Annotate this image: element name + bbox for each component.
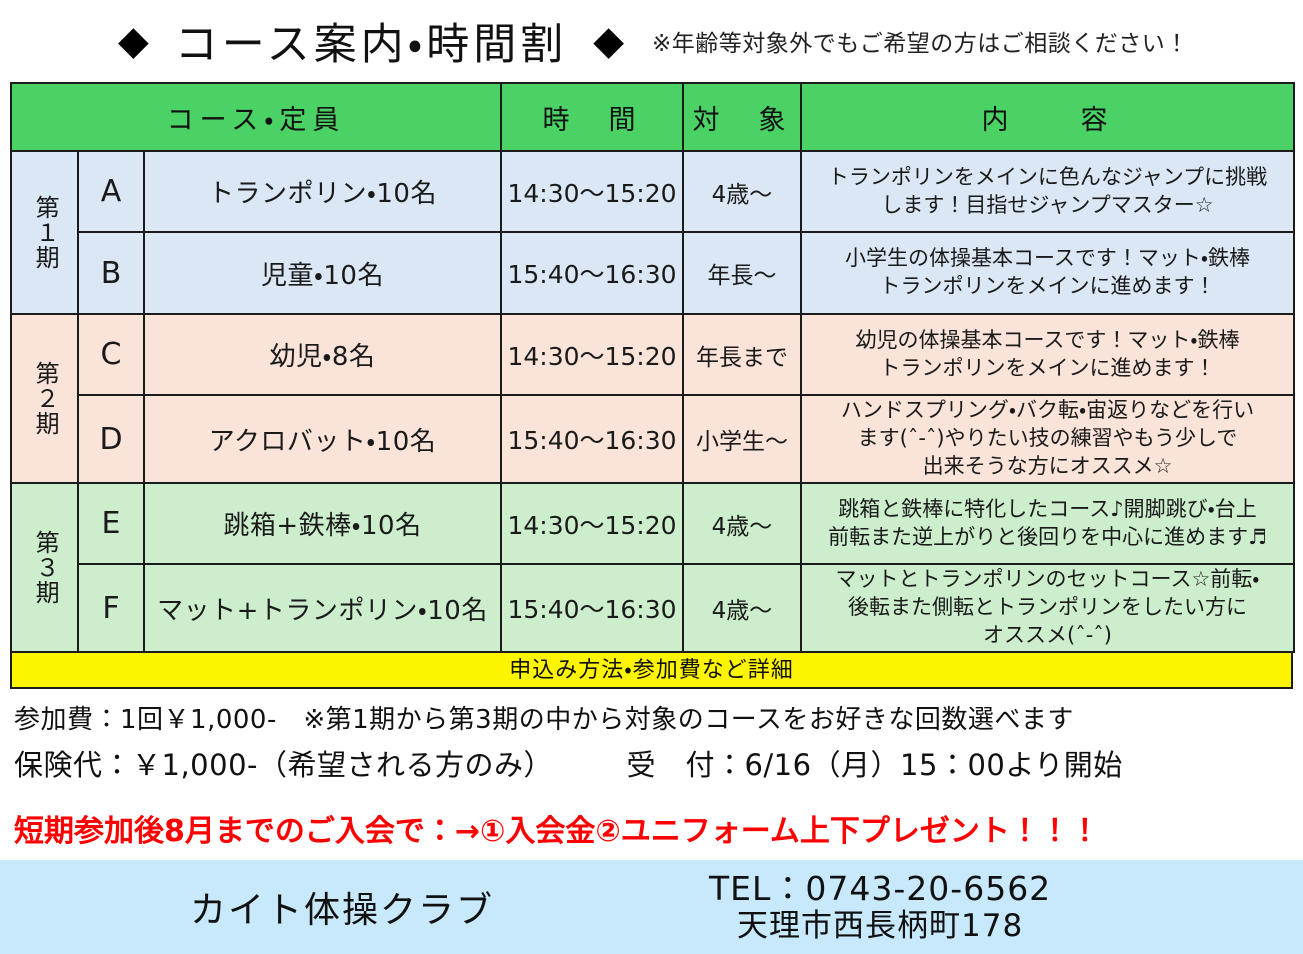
header-course: コース・定員	[11, 83, 501, 151]
period-cell-1: 第１期	[11, 151, 78, 314]
course-content: ハンドスプリング・バク転・宙返りなどを行い ます(ˆ-ˆ)やりたい技の練習やもう…	[801, 395, 1294, 483]
course-letter: D	[78, 395, 144, 483]
diamond-right-icon: ◆	[593, 21, 624, 61]
course-name: マット+トランポリン・10名	[144, 564, 501, 652]
course-name: アクロバット・10名	[144, 395, 501, 483]
course-target: 4歳～	[683, 483, 801, 564]
course-content: マットとトランポリンのセットコース☆前転・ 後転また側転とトランポリンをしたい方…	[801, 564, 1294, 652]
course-time: 14:30～15:20	[501, 314, 683, 395]
period-label: 第２期	[32, 361, 57, 436]
course-target: 4歳～	[683, 564, 801, 652]
course-content: 跳箱と鉄棒に特化したコース♪開脚跳び・台上 前転また逆上がりと後回りを中心に進め…	[801, 483, 1294, 564]
diamond-left-icon: ◆	[118, 21, 149, 61]
course-content: 幼児の体操基本コースです！マット・鉄棒 トランポリンをメインに進めます！	[801, 314, 1294, 395]
footer-bar: カイト体操クラブ TEL：0743-20-6562 天理市西長柄町178	[0, 860, 1303, 954]
title-note: ※年齢等対象外でもご希望の方はご相談ください！	[652, 24, 1189, 58]
course-name: 跳箱+鉄棒・10名	[144, 483, 501, 564]
course-time: 15:40～16:30	[501, 564, 683, 652]
period-cell-2: 第２期	[11, 314, 78, 483]
course-content: 小学生の体操基本コースです！マット・鉄棒 トランポリンをメインに進めます！	[801, 232, 1294, 314]
promo-text: 短期参加後8月までのご入会で：→①入会金②ユニフォーム上下プレゼント！！！	[0, 790, 1303, 860]
course-time: 15:40～16:30	[501, 232, 683, 314]
course-schedule-table: コース・定員 時 間 対 象 内 容 第１期 A トランポリン・10名 14:3…	[10, 82, 1295, 653]
details-band: 申込み方法・参加費など詳細	[10, 653, 1293, 689]
contact-address: 天理市西長柄町178	[709, 908, 1051, 945]
course-target: 小学生～	[683, 395, 801, 483]
course-time: 15:40～16:30	[501, 395, 683, 483]
table-row: B 児童・10名 15:40～16:30 年長～ 小学生の体操基本コースです！マ…	[11, 232, 1294, 314]
header-content: 内 容	[801, 83, 1294, 151]
club-name: カイト体操クラブ	[190, 881, 494, 933]
course-target: 年長～	[683, 232, 801, 314]
fee-line-insurance: 保険代：￥1,000-（希望される方のみ） 受 付：6/16（月）15：00より…	[14, 742, 1289, 784]
table-row: 第２期 C 幼児・8名 14:30～15:20 年長まで 幼児の体操基本コースで…	[11, 314, 1294, 395]
table-row: 第３期 E 跳箱+鉄棒・10名 14:30～15:20 4歳～ 跳箱と鉄棒に特化…	[11, 483, 1294, 564]
contact-block: TEL：0743-20-6562 天理市西長柄町178	[709, 869, 1051, 946]
course-target: 年長まで	[683, 314, 801, 395]
fee-line-participation: 参加費：1回￥1,000- ※第1期から第3期の中から対象のコースをお好きな回数…	[14, 699, 1289, 736]
course-content: トランポリンをメインに色んなジャンプに挑戦 します！目指せジャンプマスター☆	[801, 151, 1294, 232]
page-title: コース案内・時間割	[175, 10, 567, 72]
course-name: トランポリン・10名	[144, 151, 501, 232]
period-label: 第３期	[32, 530, 57, 605]
course-letter: A	[78, 151, 144, 232]
page-title-row: ◆ コース案内・時間割 ◆ ※年齢等対象外でもご希望の方はご相談ください！	[0, 0, 1303, 82]
period-label: 第１期	[32, 195, 57, 270]
course-letter: B	[78, 232, 144, 314]
table-row: F マット+トランポリン・10名 15:40～16:30 4歳～ マットとトラン…	[11, 564, 1294, 652]
table-header-row: コース・定員 時 間 対 象 内 容	[11, 83, 1294, 151]
course-letter: E	[78, 483, 144, 564]
header-time: 時 間	[501, 83, 683, 151]
course-name: 幼児・8名	[144, 314, 501, 395]
course-name: 児童・10名	[144, 232, 501, 314]
table-row: 第１期 A トランポリン・10名 14:30～15:20 4歳～ トランポリンを…	[11, 151, 1294, 232]
period-cell-3: 第３期	[11, 483, 78, 652]
course-time: 14:30～15:20	[501, 151, 683, 232]
table-body: 第１期 A トランポリン・10名 14:30～15:20 4歳～ トランポリンを…	[11, 151, 1294, 652]
fee-block: 参加費：1回￥1,000- ※第1期から第3期の中から対象のコースをお好きな回数…	[0, 689, 1303, 784]
course-target: 4歳～	[683, 151, 801, 232]
course-letter: C	[78, 314, 144, 395]
contact-tel: TEL：0743-20-6562	[709, 869, 1051, 909]
reception-text: 受 付：6/16（月）15：00より開始	[626, 748, 1122, 782]
insurance-text: 保険代：￥1,000-（希望される方のみ）	[14, 748, 553, 782]
header-target: 対 象	[683, 83, 801, 151]
flyer-page: ◆ コース案内・時間割 ◆ ※年齢等対象外でもご希望の方はご相談ください！ コー…	[0, 0, 1303, 917]
course-time: 14:30～15:20	[501, 483, 683, 564]
course-letter: F	[78, 564, 144, 652]
table-row: D アクロバット・10名 15:40～16:30 小学生～ ハンドスプリング・バ…	[11, 395, 1294, 483]
